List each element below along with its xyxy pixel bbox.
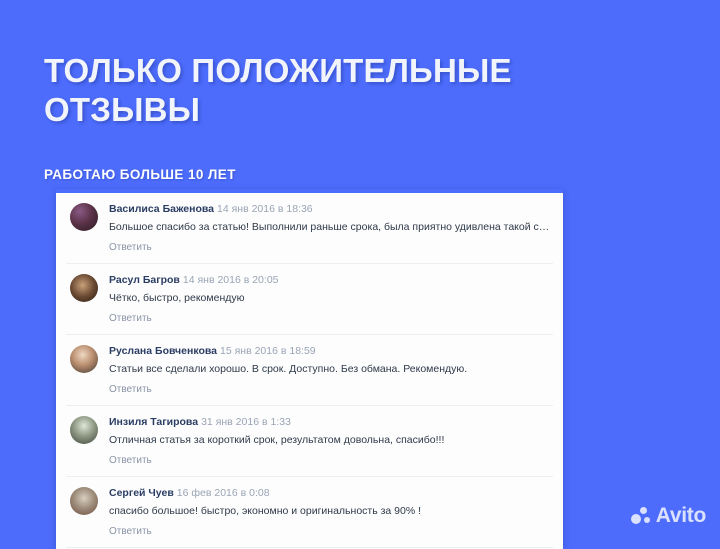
reply-link[interactable]: Ответить (109, 307, 553, 326)
review-author[interactable]: Руслана Бовченкова (109, 345, 217, 357)
avito-wordmark: Avito (656, 504, 706, 528)
avatar (70, 274, 98, 302)
review-text: Статьи все сделали хорошо. В срок. Досту… (109, 359, 553, 378)
review-text: Большое спасибо за статью! Выполнили ран… (109, 217, 553, 236)
avito-watermark: Avito (631, 504, 706, 528)
list-item: Расул Багров14 янв 2016 в 20:05 Чётко, б… (66, 264, 553, 335)
review-date: 31 янв 2016 в 1:33 (198, 416, 291, 428)
reviews-list: Василиса Баженова14 янв 2016 в 18:36 Бол… (56, 193, 563, 549)
review-date: 14 янв 2016 в 20:05 (180, 274, 279, 286)
page-subtitle: РАБОТАЮ БОЛЬШЕ 10 ЛЕТ (44, 130, 564, 182)
review-author[interactable]: Василиса Баженова (109, 203, 214, 215)
avatar (70, 345, 98, 373)
review-content: Сергей Чуев16 фев 2016 в 0:08 спасибо бо… (109, 486, 553, 539)
page-title: ТОЛЬКО ПОЛОЖИТЕЛЬНЫЕ ОТЗЫВЫ (44, 52, 564, 130)
review-text: спасибо большое! быстро, экономно и ориг… (109, 501, 553, 520)
list-item: Инзиля Тагирова31 янв 2016 в 1:33 Отличн… (66, 406, 553, 477)
avatar (70, 416, 98, 444)
review-content: Инзиля Тагирова31 янв 2016 в 1:33 Отличн… (109, 415, 553, 468)
review-content: Василиса Баженова14 янв 2016 в 18:36 Бол… (109, 202, 553, 255)
review-text: Чётко, быстро, рекомендую (109, 288, 553, 307)
avatar (70, 203, 98, 231)
review-header: Расул Багров14 янв 2016 в 20:05 (109, 273, 553, 288)
reply-link[interactable]: Ответить (109, 378, 553, 397)
reviews-card: Василиса Баженова14 янв 2016 в 18:36 Бол… (56, 189, 563, 549)
review-header: Василиса Баженова14 янв 2016 в 18:36 (109, 202, 553, 217)
avito-logo-icon (631, 507, 651, 525)
list-item: Руслана Бовченкова15 янв 2016 в 18:59 Ст… (66, 335, 553, 406)
review-author[interactable]: Инзиля Тагирова (109, 416, 198, 428)
review-author[interactable]: Сергей Чуев (109, 487, 174, 499)
review-author[interactable]: Расул Багров (109, 274, 180, 286)
review-header: Инзиля Тагирова31 янв 2016 в 1:33 (109, 415, 553, 430)
review-date: 14 янв 2016 в 18:36 (214, 203, 313, 215)
reply-link[interactable]: Ответить (109, 449, 553, 468)
reply-link[interactable]: Ответить (109, 520, 553, 539)
review-header: Сергей Чуев16 фев 2016 в 0:08 (109, 486, 553, 501)
review-text: Отличная статья за короткий срок, резуль… (109, 430, 553, 449)
list-item: Сергей Чуев16 фев 2016 в 0:08 спасибо бо… (66, 477, 553, 548)
review-content: Руслана Бовченкова15 янв 2016 в 18:59 Ст… (109, 344, 553, 397)
review-date: 15 янв 2016 в 18:59 (217, 345, 316, 357)
reply-link[interactable]: Ответить (109, 236, 553, 255)
review-content: Расул Багров14 янв 2016 в 20:05 Чётко, б… (109, 273, 553, 326)
hero-block: ТОЛЬКО ПОЛОЖИТЕЛЬНЫЕ ОТЗЫВЫ РАБОТАЮ БОЛЬ… (44, 52, 564, 182)
list-item: Василиса Баженова14 янв 2016 в 18:36 Бол… (66, 193, 553, 264)
review-date: 16 фев 2016 в 0:08 (174, 487, 270, 499)
avatar (70, 487, 98, 515)
review-header: Руслана Бовченкова15 янв 2016 в 18:59 (109, 344, 553, 359)
